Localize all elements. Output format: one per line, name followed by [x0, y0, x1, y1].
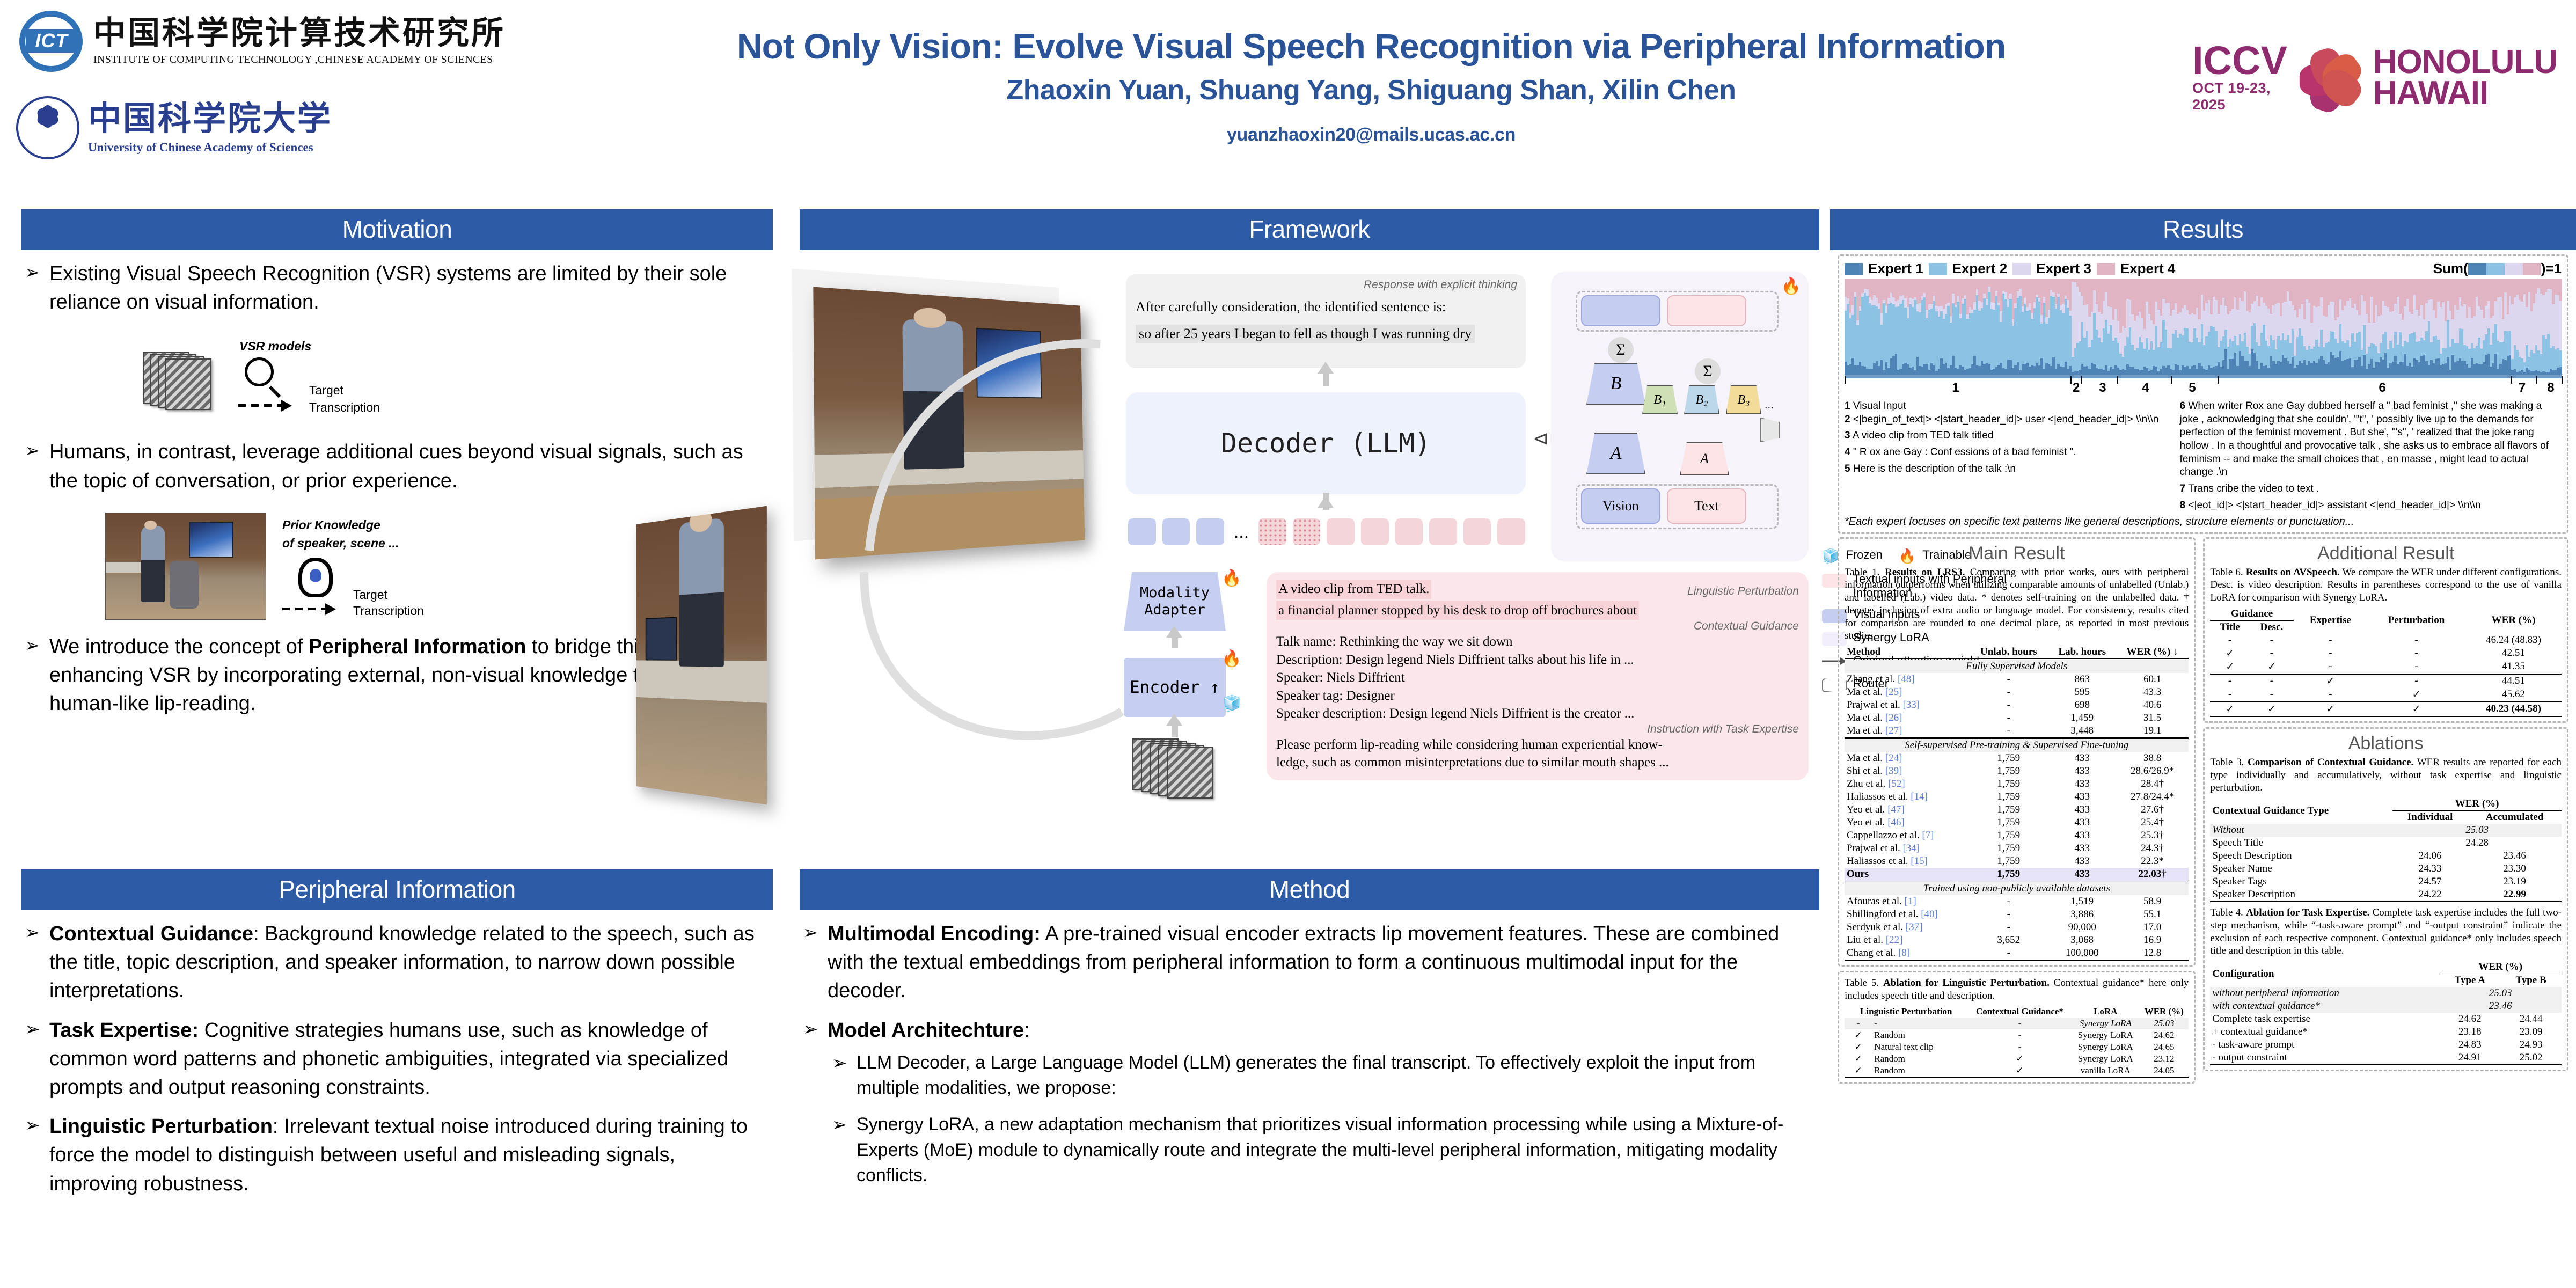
- table-cell: 698: [2048, 699, 2116, 712]
- table-cell: Ma et al. [25]: [1845, 686, 1969, 699]
- lora-text-A-block: A: [1680, 442, 1729, 475]
- table-row: ✓Random✓vanilla LoRA24.05: [1845, 1065, 2189, 1077]
- table-cell: 41.35: [2465, 660, 2562, 674]
- table-cell: Ma et al. [27]: [1845, 724, 1969, 738]
- table-cell: 27.8/24.4*: [2116, 791, 2189, 803]
- table-cell: -: [2210, 688, 2250, 702]
- table-cell: ✓: [2250, 702, 2294, 716]
- table-row: Trained using non-publicly available dat…: [1845, 882, 2189, 896]
- table-cell: 19.1: [2116, 724, 2189, 738]
- table-row: Chang et al. [8]-100,00012.8: [1845, 947, 2189, 960]
- x-tick-label: 5: [2189, 380, 2196, 396]
- table-group-header: Self-supervised Pre-training & Supervise…: [1845, 738, 2189, 752]
- motivation-heading: Motivation: [21, 209, 773, 250]
- segment-item-8: 8 <|eot_id|> <|start_header_id|> assista…: [2180, 499, 2562, 513]
- chart-sum-note: Sum( )=1: [2433, 260, 2562, 277]
- table-cell: Shi et al. [39]: [1845, 765, 1969, 778]
- table-cell: 25.3†: [2116, 829, 2189, 842]
- table-cell: 1,759: [1969, 842, 2048, 855]
- th-unlab: Unlab. hours: [1969, 646, 2048, 660]
- table-cell: Synergy LoRA: [2072, 1041, 2139, 1053]
- encoder-label: Encoder: [1130, 678, 1200, 697]
- iccv-date: OCT 19-23, 2025: [2192, 80, 2289, 113]
- table-row: Ma et al. [24]1,75943338.8: [1845, 752, 2189, 765]
- modality-adapter-box: ModalityAdapter: [1124, 572, 1226, 631]
- table-linguistic-perturbation: Linguistic Perturbation Contextual Guida…: [1845, 1006, 2189, 1078]
- table-row: [2210, 1064, 2562, 1065]
- table-cell: -: [1872, 1018, 1967, 1029]
- main-result-card: Main Result Table 1. Results on LRS3. Co…: [1838, 537, 2196, 967]
- table-cell: 17.0: [2116, 921, 2189, 934]
- table-cell: -: [1969, 712, 2048, 724]
- encoder-box: Encoder ↑: [1124, 658, 1226, 717]
- table-cell: 1,759: [1969, 803, 2048, 816]
- ict-name-cn: 中国科学院计算技术研究所: [93, 17, 506, 50]
- th-typea: Type A: [2439, 974, 2500, 987]
- table-cell: ✓: [1845, 1041, 1872, 1053]
- table-cell: -: [2294, 688, 2367, 702]
- sum-suffix: )=1: [2541, 260, 2562, 277]
- legend-swatch-expert-4: [2097, 263, 2115, 275]
- text-token: [1463, 518, 1491, 545]
- table-cell: 1,759: [1969, 829, 2048, 842]
- table-cell: 25.03: [2392, 824, 2562, 837]
- video-frames-icon: [1132, 738, 1197, 795]
- table-row: Speech Title24.28: [2210, 837, 2562, 850]
- motivation-bullet-2-text: Humans, in contrast, leverage additional…: [49, 438, 767, 495]
- table-row: Ma et al. [27]-3,44819.1: [1845, 724, 2189, 738]
- peripheral-heading: Peripheral Information: [21, 869, 773, 910]
- table-row: Complete task expertise24.6224.44: [2210, 1013, 2562, 1026]
- visual-token: [1162, 518, 1190, 545]
- synergy-lora-panel: 🔥 Σ Σ B A B₁ B₂ B₃ ... A Vision Text: [1551, 272, 1809, 561]
- table-cell: -: [2294, 634, 2367, 647]
- table-row: Shi et al. [39]1,75943328.6/26.9*: [1845, 765, 2189, 778]
- th-wer6: WER (%): [2465, 608, 2562, 634]
- table-cell: 100,000: [2048, 947, 2116, 960]
- x-tick-label: 4: [2142, 380, 2149, 396]
- framework-diagram: Response with explicit thinking After ca…: [800, 250, 1819, 830]
- poster-header: ICT 中国科学院计算技术研究所 INSTITUTE OF COMPUTING …: [0, 0, 2576, 204]
- table-cell: 23.30: [2468, 862, 2562, 875]
- magnifier-icon: [245, 357, 274, 386]
- table-cell: 55.1: [2116, 908, 2189, 921]
- ablations-title: Ablations: [2210, 733, 2562, 754]
- motivation-figure-2: Prior Knowledge of speaker, scene ... Ta…: [25, 506, 767, 630]
- table-cell: 24.33: [2392, 862, 2468, 875]
- table-cell: Random: [1872, 1053, 1967, 1065]
- table-cell: 24.3†: [2116, 842, 2189, 855]
- table-row: Without25.03: [2210, 824, 2562, 837]
- table-cell: -: [2367, 674, 2465, 688]
- table-cell: 24.22: [2392, 888, 2468, 901]
- table-cell: 40.23 (44.58): [2465, 702, 2562, 716]
- th-t5-lora: LoRA: [2072, 1006, 2139, 1018]
- th-title: Title: [2210, 620, 2250, 634]
- table-row: Prajwal et al. [34]1,75943324.3†: [1845, 842, 2189, 855]
- table-cell: - task-aware prompt: [2210, 1038, 2439, 1051]
- table-cell: Afouras et al. [1]: [1845, 895, 1969, 908]
- x-tick-label: 6: [2379, 380, 2385, 396]
- x-tick-label: 2: [2073, 380, 2080, 396]
- text-input-box: Text: [1667, 488, 1746, 524]
- ucas-logo: 中国科学院大学 University of Chinese Academy of…: [16, 90, 553, 165]
- table-cell: 25.03: [2439, 987, 2562, 1000]
- flame-icon: 🔥: [1781, 277, 1801, 296]
- peripheral-term-2: Task Expertise:: [49, 1019, 199, 1042]
- prior-knowledge-label-1: Prior Knowledge: [282, 518, 380, 532]
- method-subbullet-1: ➢ LLM Decoder, a Large Language Model (L…: [832, 1050, 1814, 1101]
- transcription-label-2: Transcription: [353, 604, 424, 618]
- table-cell: 23.46: [2468, 850, 2562, 862]
- mb3-bold: Peripheral Information: [309, 635, 526, 658]
- table-cell: 24.06: [2392, 850, 2468, 862]
- th-t4-wer: WER (%): [2439, 961, 2562, 974]
- table-cell: 23.46: [2439, 1000, 2562, 1013]
- chart-x-axis: 12345678: [1845, 378, 2562, 397]
- chart-column: [2559, 279, 2562, 375]
- table-cell: -: [2250, 647, 2294, 660]
- decoder-llm-box: Decoder (LLM): [1126, 392, 1526, 494]
- chart-legend: Expert 1 Expert 2 Expert 3 Expert 4 Sum(…: [1845, 260, 2562, 277]
- text-token: [1497, 518, 1525, 545]
- x-tick-mark: [2117, 376, 2118, 384]
- method-subbullet-2: ➢ Synergy LoRA, a new adaptation mechani…: [832, 1112, 1814, 1189]
- table-cell: 23.09: [2500, 1026, 2562, 1038]
- table-cell: Synergy LoRA: [2072, 1053, 2139, 1065]
- table-row: Haliassos et al. [15]1,75943322.3*: [1845, 855, 2189, 868]
- x-tick-label: 3: [2099, 380, 2106, 396]
- table-row: ✓✓--41.35: [2210, 660, 2562, 674]
- legend-label-expert-2: Expert 2: [1952, 260, 2008, 277]
- author-list: Zhaoxin Yuan, Shuang Yang, Shiguang Shan…: [580, 74, 2163, 106]
- segment-item-1: 1 Visual Input: [1845, 400, 2175, 413]
- legend-label-expert-4: Expert 4: [2120, 260, 2176, 277]
- table-row: ✓Random✓Synergy LoRA23.12: [1845, 1053, 2189, 1065]
- table-cell: -: [1969, 699, 2048, 712]
- th-accumulated: Accumulated: [2468, 811, 2562, 824]
- table-cell: ✓: [1845, 1053, 1872, 1065]
- peripheral-prompt-box: A video clip from TED talk. Linguistic P…: [1267, 572, 1809, 780]
- table5-caption: Table 5. Ablation for Linguistic Perturb…: [1845, 977, 2189, 1002]
- table-cell: -: [1969, 895, 2048, 908]
- segment-item-7: 7 Trans cribe the video to text .: [2180, 482, 2562, 496]
- table-row: [2210, 901, 2562, 902]
- table-cell: 1,759: [1969, 855, 2048, 868]
- x-tick-mark: [2562, 376, 2563, 384]
- token-embedding-row: ...: [1128, 513, 1525, 551]
- table-cell: -: [2367, 647, 2465, 660]
- text-token: [1361, 518, 1389, 545]
- table-cell: -: [1969, 947, 2048, 960]
- table-cell: -: [2367, 634, 2465, 647]
- legend-swatch-expert-1: [1845, 263, 1863, 275]
- table-cell: ✓: [1968, 1053, 2072, 1065]
- prompt-perturbation-line: a financial planner stopped by his desk …: [1276, 601, 1639, 620]
- table5-card: Table 5. Ablation for Linguistic Perturb…: [1838, 971, 2196, 1084]
- table-cell: 23.12: [2139, 1053, 2189, 1065]
- up-arrow-icon: [1166, 626, 1182, 638]
- th-guidance: Guidance: [2210, 608, 2293, 621]
- th-cgtype: Contextual Guidance Type: [2210, 797, 2392, 824]
- iccv-logo: ICCV OCT 19-23, 2025 HONOLULU HAWAII: [2192, 32, 2557, 123]
- x-tick-mark: [2171, 376, 2172, 384]
- table-cell: Prajwal et al. [34]: [1845, 842, 1969, 855]
- prompt-ctx-line-3: Speaker tag: Designer: [1276, 687, 1799, 705]
- table-cell: Ma et al. [24]: [1845, 752, 1969, 765]
- iccv-city: HONOLULU: [2373, 47, 2557, 78]
- table-cell: 43.3: [2116, 686, 2189, 699]
- contact-email: yuanzhaoxin20@mails.ucas.ac.cn: [580, 125, 2163, 145]
- main-result-title: Main Result: [1845, 543, 2189, 564]
- th-config: Configuration: [2210, 961, 2439, 987]
- table-cell: Speech Title: [2210, 837, 2392, 850]
- table-row: Zhu et al. [52]1,75943328.4†: [1845, 778, 2189, 791]
- response-line-1: After carefully consideration, the ident…: [1136, 299, 1516, 315]
- contextual-guidance-caption: Contextual Guidance: [1276, 620, 1799, 633]
- table-cell: Chang et al. [8]: [1845, 947, 1969, 960]
- x-tick-label: 8: [2547, 380, 2554, 396]
- method-term-2: Model Architechture: [828, 1019, 1024, 1042]
- table-cell: 863: [2048, 673, 2116, 686]
- table-cell: Random: [1872, 1029, 1967, 1041]
- lora-A-block: A: [1586, 433, 1645, 474]
- section-peripheral-information: Peripheral Information ➢ Contextual Guid…: [21, 869, 773, 1277]
- table-row: Yeo et al. [47]1,75943327.6†: [1845, 803, 2189, 816]
- table-cell: ✓: [2294, 702, 2367, 716]
- table-row: Speaker Tags24.5723.19: [2210, 875, 2562, 888]
- table-row: [1845, 1077, 2189, 1077]
- method-subtext-2: Synergy LoRA, a new adaptation mechanism…: [857, 1112, 1814, 1189]
- table-cell: 28.6/26.9*: [2116, 765, 2189, 778]
- iccv-state: HAWAII: [2373, 78, 2557, 109]
- table-row: with contextual guidance*23.46: [2210, 1000, 2562, 1013]
- method-subtext-1: LLM Decoder, a Large Language Model (LLM…: [857, 1050, 1814, 1101]
- text-token: [1293, 518, 1321, 545]
- framework-heading: Framework: [800, 209, 1819, 250]
- table-cell: Liu et al. [22]: [1845, 934, 1969, 947]
- bullet-arrow-icon: ➢: [25, 1113, 49, 1139]
- segment-item-5: 5 Here is the description of the talk :\…: [1845, 463, 2175, 476]
- x-tick-label: 1: [1952, 380, 1959, 396]
- bullet-arrow-icon: ➢: [832, 1112, 857, 1138]
- additional-result-card: Additional Result Table 6. Results on AV…: [2203, 537, 2568, 723]
- section-motivation: Motivation ➢ Existing Visual Speech Reco…: [21, 209, 773, 853]
- table-cell: -: [2250, 634, 2294, 647]
- peripheral-bullet-3: ➢ Linguistic Perturbation: Irrelevant te…: [25, 1113, 767, 1198]
- table-cell: 1,519: [2048, 895, 2116, 908]
- video-frames-icon: [143, 352, 207, 408]
- table-cell: -: [1969, 724, 2048, 738]
- segment-item-2: 2 <|begin_of_text|> <|start_header_id|> …: [1845, 413, 2175, 427]
- visual-token: [1196, 518, 1224, 545]
- section-framework: Framework Response with explicit thinkin…: [800, 209, 1819, 853]
- table-cell: -: [1969, 673, 2048, 686]
- method-bullet-2: ➢ Model Architechture:: [803, 1016, 1814, 1045]
- legend-label-expert-1: Expert 1: [1868, 260, 1923, 277]
- table-cell: -: [2210, 674, 2250, 688]
- table-cell: Speaker Tags: [2210, 875, 2392, 888]
- x-tick-mark: [2218, 376, 2219, 384]
- ict-mark-text: ICT: [26, 29, 77, 53]
- table-cell: 433: [2048, 842, 2116, 855]
- table-cell: Yeo et al. [46]: [1845, 816, 1969, 829]
- dashed-arrow-icon: [238, 402, 297, 408]
- table-group-header: Fully Supervised Models: [1845, 660, 2189, 674]
- text-out-box: [1667, 295, 1746, 326]
- table3-caption: Table 3. Comparison of Contextual Guidan…: [2210, 756, 2562, 794]
- table-lrs3: Method Unlab. hours Lab. hours WER (%) ↓…: [1845, 646, 2189, 961]
- th-t5-cg: Contextual Guidance*: [1968, 1006, 2072, 1018]
- token-ellipsis: ...: [1231, 522, 1252, 543]
- up-arrow-icon: [1166, 714, 1182, 726]
- table-row: [1845, 960, 2189, 960]
- prompt-ctx-line-4: Speaker description: Design legend Niels…: [1276, 705, 1799, 723]
- table-row: ✓Natural text clip-Synergy LoRA24.65: [1845, 1041, 2189, 1053]
- table-cell: Without: [2210, 824, 2392, 837]
- th-method: Method: [1845, 646, 1969, 660]
- table-cell: 23.19: [2468, 875, 2562, 888]
- response-line-2: so after 25 years I began to fell as tho…: [1136, 325, 1475, 343]
- table-cell: ✓: [1845, 1029, 1872, 1041]
- table-cell: -: [2294, 660, 2367, 674]
- response-caption: Response with explicit thinking: [1364, 279, 1517, 291]
- table-cell: -: [1968, 1018, 2072, 1029]
- x-tick-mark: [2536, 376, 2537, 384]
- table-cell: 25.02: [2500, 1051, 2562, 1064]
- bullet-arrow-icon: ➢: [832, 1050, 857, 1077]
- ucas-emblem-icon: [16, 96, 79, 159]
- table-cell: -: [2250, 688, 2294, 702]
- section-results: Results Expert 1 Expert 2 Expert 3 Exper…: [1830, 209, 2576, 1283]
- bullet-arrow-icon: ➢: [25, 920, 49, 946]
- text-token: [1429, 518, 1457, 545]
- table-cell: Haliassos et al. [14]: [1845, 791, 1969, 803]
- table-cell: Speech Description: [2210, 850, 2392, 862]
- table-cell: 24.28: [2392, 837, 2562, 850]
- table-cell: Synergy LoRA: [2072, 1018, 2139, 1029]
- x-tick-label: 7: [2519, 380, 2526, 396]
- method-desc-2: :: [1024, 1019, 1030, 1042]
- table-row: Ma et al. [26]-1,45931.5: [1845, 712, 2189, 724]
- prompt-task-line-1: ledge, such as common misinterpretations…: [1276, 753, 1799, 772]
- up-arrow-icon: [1318, 362, 1334, 374]
- x-tick-mark: [2511, 376, 2512, 384]
- table-cell: -: [2250, 674, 2294, 688]
- flame-icon: 🔥: [1221, 649, 1241, 668]
- table-cell: 24.62: [2439, 1013, 2500, 1026]
- peripheral-term-3: Linguistic Perturbation: [49, 1115, 273, 1138]
- ucas-name-en: University of Chinese Academy of Science…: [88, 141, 332, 155]
- table-row: ✓---42.51: [2210, 647, 2562, 660]
- additional-result-title: Additional Result: [2210, 543, 2562, 564]
- table-row: Afouras et al. [1]-1,51958.9: [1845, 895, 2189, 908]
- table-cell: Haliassos et al. [15]: [1845, 855, 1969, 868]
- table-cell: Shillingford et al. [40]: [1845, 908, 1969, 921]
- table-cell: 3,068: [2048, 934, 2116, 947]
- motivation-figure-1: VSR models Target Transcription: [25, 327, 767, 435]
- chart-footnote: *Each expert focuses on specific text pa…: [1845, 516, 2562, 528]
- transcription-label-1: Transcription: [309, 400, 380, 415]
- results-heading: Results: [1830, 209, 2576, 250]
- table-cell: Natural text clip: [1872, 1041, 1967, 1053]
- table-cell: 60.1: [2116, 673, 2189, 686]
- th-individual: Individual: [2392, 811, 2468, 824]
- table-cell: 1,759: [1969, 791, 2048, 803]
- table-cell: 58.9: [2116, 895, 2189, 908]
- vision-input-box: Vision: [1581, 488, 1660, 524]
- method-term-1: Multimodal Encoding:: [828, 923, 1041, 945]
- peripheral-bullet-2: ➢ Task Expertise: Cognitive strategies h…: [25, 1016, 767, 1102]
- sum-prefix: Sum(: [2433, 260, 2468, 277]
- table-cell: 433: [2048, 765, 2116, 778]
- text-token: [1327, 518, 1355, 545]
- table-row: Zhang et al. [48]-86360.1: [1845, 673, 2189, 686]
- segment-legend: 1 Visual Input 2 <|begin_of_text|> <|sta…: [1845, 400, 2562, 513]
- table-cell: 24.65: [2139, 1041, 2189, 1053]
- table-row: Self-supervised Pre-training & Supervise…: [1845, 738, 2189, 752]
- legend-label-expert-3: Expert 3: [2036, 260, 2091, 277]
- bullet-arrow-icon: ➢: [803, 1016, 828, 1043]
- table-cell: ✓: [1845, 1065, 1872, 1077]
- flame-icon: 🔥: [1221, 569, 1241, 588]
- table-row: Yeo et al. [46]1,75943325.4†: [1845, 816, 2189, 829]
- table-cell: with contextual guidance*: [2210, 1000, 2439, 1013]
- th-typeb: Type B: [2500, 974, 2562, 987]
- table-cell: Random: [1872, 1065, 1967, 1077]
- legend-swatch-expert-2: [1929, 263, 1947, 275]
- expert-B1-block: B₁: [1642, 385, 1678, 414]
- segment-item-6: 6 When writer Rox ane Gay dubbed herself…: [2180, 400, 2562, 479]
- table-cell: ✓: [2367, 702, 2465, 716]
- table-row: ---Synergy LoRA25.03: [1845, 1018, 2189, 1029]
- title-block: Not Only Vision: Evolve Visual Speech Re…: [580, 27, 2163, 145]
- table-row: ----46.24 (48.83): [2210, 634, 2562, 647]
- table-cell: 38.8: [2116, 752, 2189, 765]
- table-row: Shillingford et al. [40]-3,88655.1: [1845, 908, 2189, 921]
- table-cell: 1,759: [1969, 816, 2048, 829]
- table-avspeech: Guidance Expertise Perturbation WER (%) …: [2210, 608, 2562, 717]
- head-thought-icon: [298, 558, 333, 597]
- ted-talk-photo: [105, 513, 266, 620]
- table-cell: Complete task expertise: [2210, 1013, 2439, 1026]
- table-cell: 25.4†: [2116, 816, 2189, 829]
- table-cell: Zhu et al. [52]: [1845, 778, 1969, 791]
- main-result-caption: Table 1. Results on LRS3. Comparing with…: [1845, 566, 2189, 643]
- table-row: Speech Description24.0623.46: [2210, 850, 2562, 862]
- table-cell: -: [1845, 1018, 1872, 1029]
- routing-chart-card: Expert 1 Expert 2 Expert 3 Expert 4 Sum(…: [1838, 254, 2568, 534]
- vision-out-box: [1581, 295, 1660, 326]
- experts-ellipsis: ...: [1765, 399, 1774, 412]
- table-row: Fully Supervised Models: [1845, 660, 2189, 674]
- table-cell: 24.44: [2500, 1013, 2562, 1026]
- table-cell: + contextual guidance*: [2210, 1026, 2439, 1038]
- th-t5-lp: Linguistic Perturbation: [1845, 1006, 1968, 1018]
- table-cell: 3,886: [2048, 908, 2116, 921]
- table-cell: 22.03†: [2116, 868, 2189, 882]
- target-label-2: Target: [353, 588, 387, 602]
- table-cell: without peripheral information: [2210, 987, 2439, 1000]
- table-cell: 433: [2048, 752, 2116, 765]
- table-cell: -: [1969, 686, 2048, 699]
- table-cell: ✓: [2210, 702, 2250, 716]
- table-row: Serdyuk et al. [37]-90,00017.0: [1845, 921, 2189, 934]
- table-cell: 24.93: [2500, 1038, 2562, 1051]
- hibiscus-flower-icon: [2294, 40, 2369, 115]
- table-cell: -: [1969, 908, 2048, 921]
- table-row: [2210, 716, 2562, 716]
